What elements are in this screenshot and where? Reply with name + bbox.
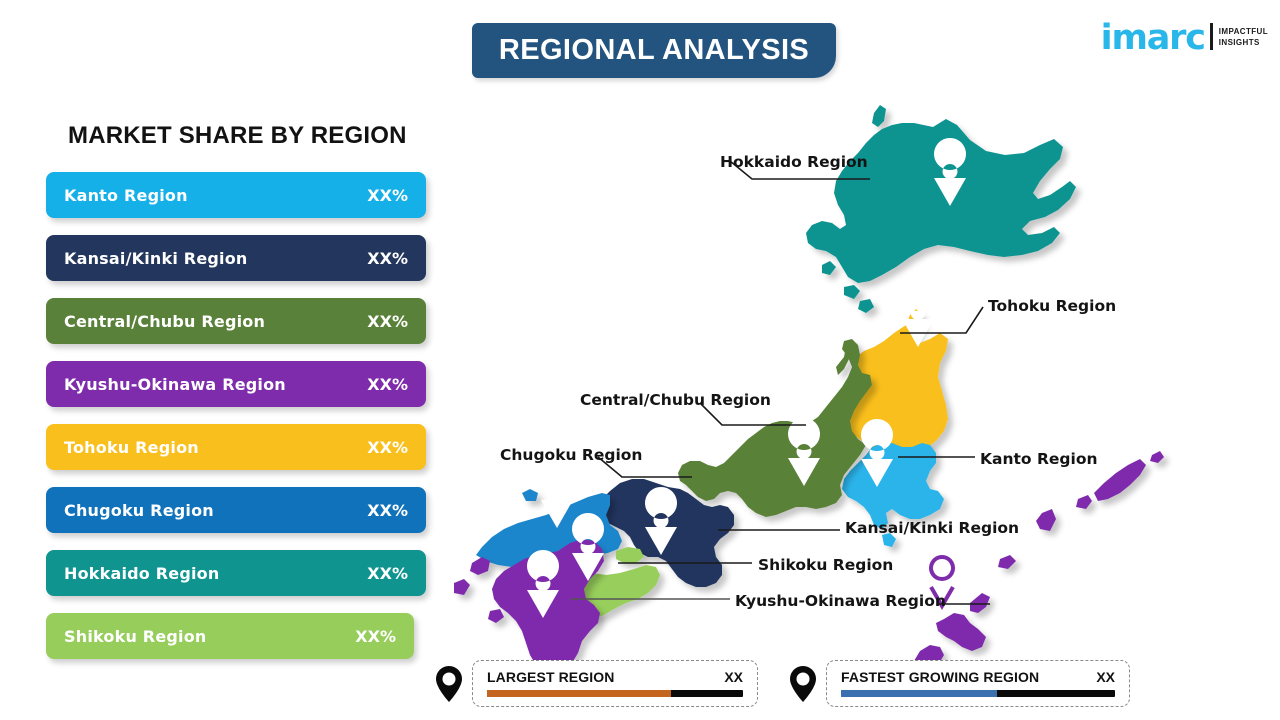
largest-region-progress-track [487, 690, 743, 697]
map-label-central-chubu: Central/Chubu Region [580, 391, 771, 409]
market-share-bar-value: XX% [367, 564, 408, 583]
map-label-shikoku: Shikoku Region [758, 556, 893, 574]
market-share-bar-value: XX% [367, 501, 408, 520]
largest-region-progress-fill [487, 690, 671, 697]
largest-region-box: LARGEST REGION XX [472, 660, 758, 707]
market-share-bar[interactable]: Kanto RegionXX% [46, 172, 426, 218]
map-label-kansai-kinki: Kansai/Kinki Region [845, 519, 1019, 537]
largest-region-callout: LARGEST REGION XX [436, 660, 758, 707]
market-share-bar[interactable]: Chugoku RegionXX% [46, 487, 426, 533]
market-share-bar-label: Tohoku Region [64, 438, 199, 457]
map-region-okinawa[interactable] [912, 451, 1164, 660]
logo-tagline-line1: IMPACTFUL [1219, 27, 1268, 38]
fastest-growing-region-progress-track [841, 690, 1115, 697]
largest-region-value: XX [724, 669, 743, 685]
japan-regional-map: Hokkaido Region Tohoku Region Central/Ch… [430, 95, 1260, 660]
market-share-bar-value: XX% [367, 375, 408, 394]
fastest-growing-region-row: FASTEST GROWING REGION XX [841, 669, 1115, 685]
logo-tagline: IMPACTFUL INSIGHTS [1219, 27, 1268, 49]
market-share-bar[interactable]: Hokkaido RegionXX% [46, 550, 426, 596]
market-share-bar-label: Central/Chubu Region [64, 312, 265, 331]
logo-tagline-line2: INSIGHTS [1219, 38, 1268, 49]
market-share-bar-value: XX% [355, 627, 396, 646]
market-share-bar-label: Chugoku Region [64, 501, 214, 520]
market-share-bar[interactable]: Central/Chubu RegionXX% [46, 298, 426, 344]
logo-wordmark: imarc [1101, 22, 1205, 54]
map-region-hokkaido[interactable] [806, 105, 1076, 313]
map-label-kyushu-okinawa: Kyushu-Okinawa Region [735, 592, 946, 610]
market-share-bar-label: Kyushu-Okinawa Region [64, 375, 286, 394]
market-share-bar-label: Hokkaido Region [64, 564, 219, 583]
market-share-bar[interactable]: Shikoku RegionXX% [46, 613, 414, 659]
map-label-kanto: Kanto Region [980, 450, 1098, 468]
market-share-bar[interactable]: Kyushu-Okinawa RegionXX% [46, 361, 426, 407]
market-share-bar-value: XX% [367, 312, 408, 331]
map-label-tohoku: Tohoku Region [988, 297, 1116, 315]
market-share-bar-value: XX% [367, 186, 408, 205]
fastest-growing-region-box: FASTEST GROWING REGION XX [826, 660, 1130, 707]
fastest-growing-region-value: XX [1096, 669, 1115, 685]
market-share-bar-value: XX% [367, 438, 408, 457]
imarc-logo: imarc IMPACTFUL INSIGHTS [1101, 14, 1268, 54]
map-region-central-chubu[interactable] [678, 339, 872, 517]
largest-region-row: LARGEST REGION XX [487, 669, 743, 685]
logo-divider [1210, 23, 1213, 50]
page-header-banner: REGIONAL ANALYSIS [472, 23, 836, 78]
map-label-hokkaido: Hokkaido Region [720, 153, 868, 171]
largest-region-title: LARGEST REGION [487, 669, 614, 685]
market-share-bar-value: XX% [367, 249, 408, 268]
market-share-bar-label: Shikoku Region [64, 627, 207, 646]
map-label-chugoku: Chugoku Region [500, 446, 642, 464]
market-share-bar-label: Kanto Region [64, 186, 188, 205]
map-pin-icon [436, 666, 462, 702]
market-share-bar[interactable]: Kansai/Kinki RegionXX% [46, 235, 426, 281]
market-share-list: Kanto RegionXX%Kansai/Kinki RegionXX%Cen… [46, 172, 426, 676]
fastest-growing-region-callout: FASTEST GROWING REGION XX [790, 660, 1130, 707]
market-share-bar-label: Kansai/Kinki Region [64, 249, 248, 268]
map-pin-icon [790, 666, 816, 702]
page-title: REGIONAL ANALYSIS [499, 34, 809, 67]
japan-map-svg [430, 95, 1260, 660]
fastest-growing-region-title: FASTEST GROWING REGION [841, 669, 1039, 685]
market-share-heading: MARKET SHARE BY REGION [68, 122, 407, 150]
market-share-bar[interactable]: Tohoku RegionXX% [46, 424, 426, 470]
fastest-growing-region-progress-fill [841, 690, 997, 697]
